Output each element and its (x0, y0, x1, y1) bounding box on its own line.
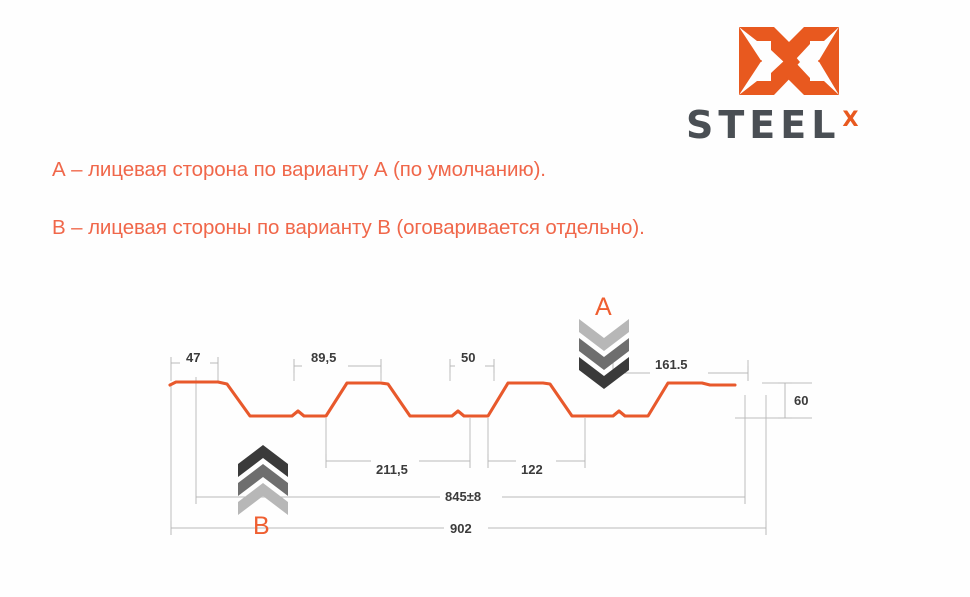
caption-variant-b: В – лицевая стороны по варианту В (огова… (52, 216, 645, 240)
marker-a-chevrons (579, 319, 629, 389)
marker-a (579, 319, 629, 389)
dim-122-label: 122 (521, 462, 543, 477)
dim-89-5-label: 89,5 (311, 350, 336, 365)
logo-steel-text: STEEL (686, 106, 840, 144)
dim-902-label: 902 (450, 521, 472, 536)
dim-161-5-label: 161.5 (655, 357, 688, 372)
logo-wordmark: STEEL X (686, 106, 896, 148)
dim-60-label: 60 (794, 393, 808, 408)
dimension-text-backgrounds (180, 353, 708, 534)
dim-47-label: 47 (186, 350, 200, 365)
marker-b-letter: В (253, 512, 270, 541)
logo-x-superscript: X (842, 109, 858, 130)
marker-a-letter: А (595, 293, 612, 322)
profile-outline (170, 382, 735, 416)
marker-b (238, 445, 288, 515)
brand-logo: STEEL X (686, 14, 896, 148)
marker-b-chevrons (238, 445, 288, 515)
dim-211-5-label: 211,5 (376, 462, 408, 477)
dim-50-label: 50 (461, 350, 475, 365)
caption-variant-a: А – лицевая сторона по варианту А (по ум… (52, 158, 546, 182)
dim-845-label: 845±8 (445, 489, 481, 504)
